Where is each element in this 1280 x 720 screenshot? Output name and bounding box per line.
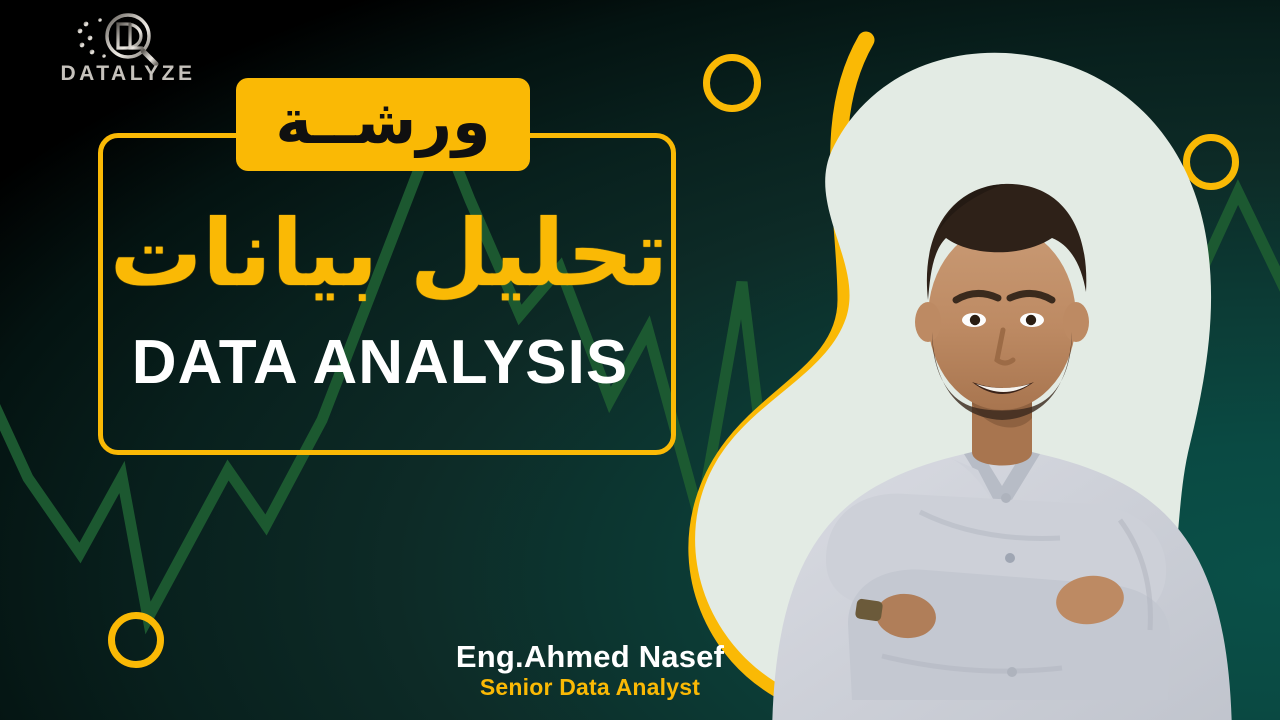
presenter-block: Eng.Ahmed Nasef Senior Data Analyst: [360, 640, 820, 702]
portrait-blob: [620, 0, 1280, 720]
workshop-badge: ورشــة: [236, 78, 530, 171]
brand-logo[interactable]: [48, 8, 208, 100]
presenter-role: Senior Data Analyst: [360, 673, 820, 702]
blob-and-portrait-svg: [620, 0, 1280, 720]
brand-wordmark: DATALYZE: [48, 62, 208, 86]
headline-english: DATA ANALYSIS: [100, 332, 660, 394]
promo-banner: ورشــة تحليل بيانات DATA ANALYSIS: [0, 0, 1280, 720]
presenter-name: Eng.Ahmed Nasef: [360, 640, 820, 673]
ring-bottom-left-icon: [108, 612, 164, 668]
workshop-badge-label: ورشــة: [275, 91, 490, 153]
magnifier-circuit-icon: [48, 8, 208, 70]
headline-arabic: تحليل بيانات: [100, 208, 678, 300]
